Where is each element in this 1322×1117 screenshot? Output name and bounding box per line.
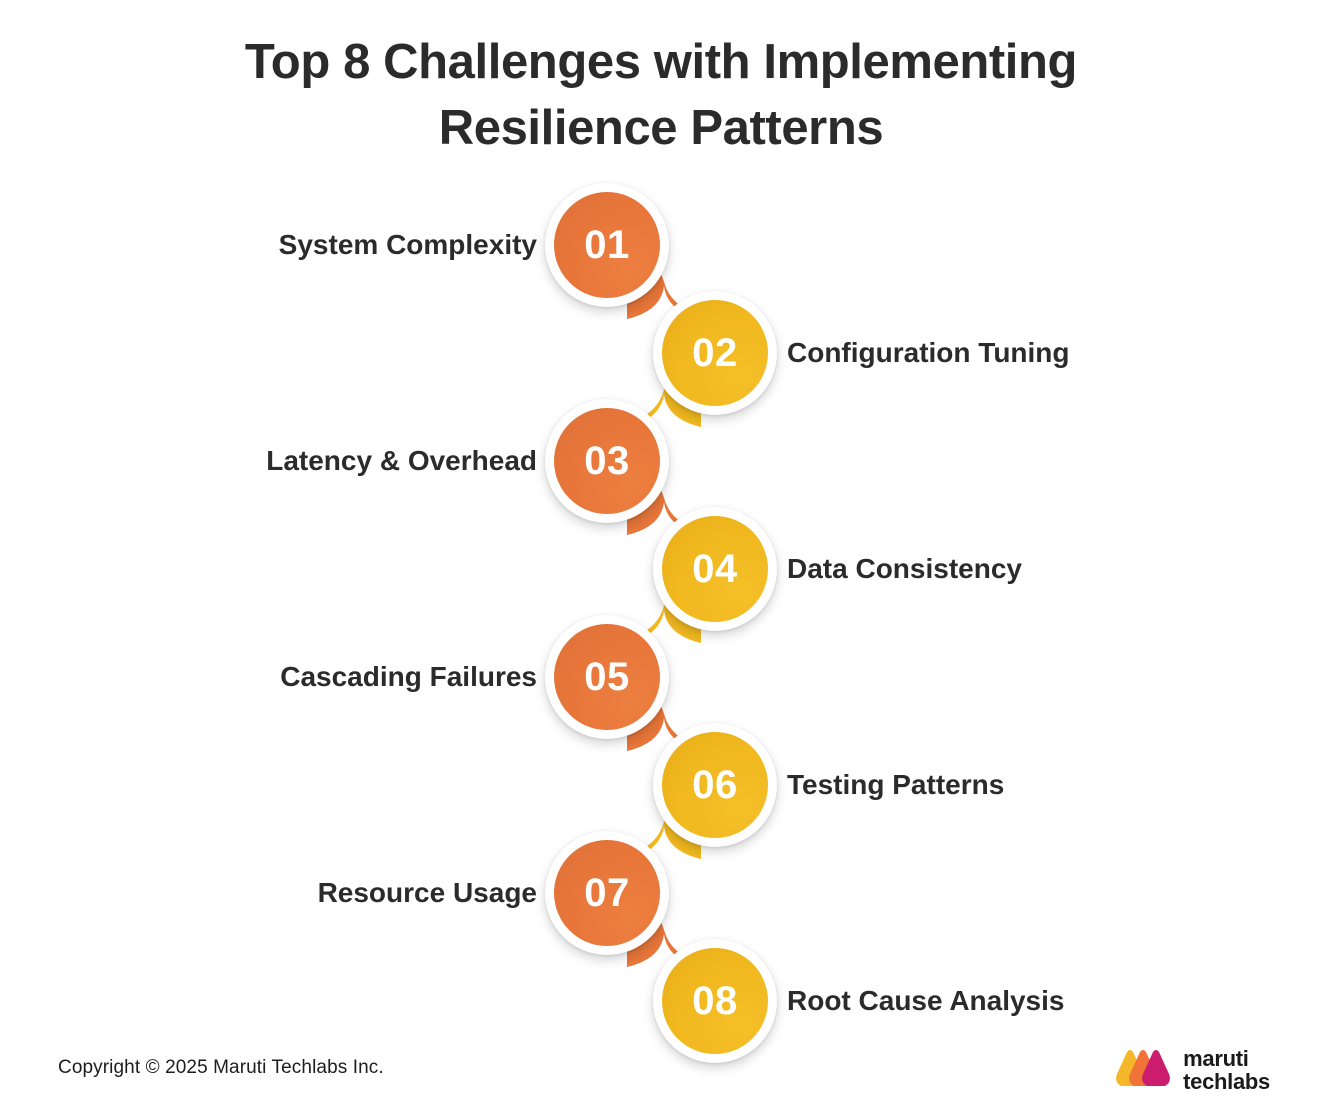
logo-wordmark-line-1: maruti (1183, 1047, 1270, 1070)
infographic-page: Top 8 Challenges with Implementing Resil… (0, 0, 1322, 1117)
step-number-01: 01 (584, 225, 630, 265)
step-node-06[interactable]: 06 (653, 723, 777, 847)
step-number-05: 05 (584, 657, 630, 697)
step-number-04: 04 (692, 549, 738, 589)
step-node-04[interactable]: 04 (653, 507, 777, 631)
step-label-02: Configuration Tuning (787, 336, 1070, 370)
copyright-text: Copyright © 2025 Maruti Techlabs Inc. (58, 1057, 384, 1079)
step-disc-05: 05 (554, 624, 660, 730)
step-number-07: 07 (584, 873, 630, 913)
step-disc-04: 04 (662, 516, 768, 622)
step-node-08[interactable]: 08 (653, 939, 777, 1063)
step-disc-02: 02 (662, 300, 768, 406)
step-label-01: System Complexity (279, 228, 537, 262)
step-disc-07: 07 (554, 840, 660, 946)
step-disc-03: 03 (554, 408, 660, 514)
step-node-01[interactable]: 01 (545, 183, 669, 307)
logo-mark-icon (1110, 1048, 1172, 1092)
step-label-06: Testing Patterns (787, 768, 1004, 802)
step-label-03: Latency & Overhead (266, 444, 537, 478)
logo-wordmark-line-2: techlabs (1183, 1070, 1270, 1093)
step-number-03: 03 (584, 441, 630, 481)
step-label-08: Root Cause Analysis (787, 984, 1064, 1018)
step-disc-06: 06 (662, 732, 768, 838)
step-disc-08: 08 (662, 948, 768, 1054)
step-node-02[interactable]: 02 (653, 291, 777, 415)
step-label-04: Data Consistency (787, 552, 1022, 586)
step-node-03[interactable]: 03 (545, 399, 669, 523)
step-label-07: Resource Usage (318, 876, 537, 910)
step-disc-01: 01 (554, 192, 660, 298)
logo-wordmark: maruti techlabs (1183, 1047, 1270, 1094)
step-label-05: Cascading Failures (280, 660, 537, 694)
maruti-techlabs-logo: maruti techlabs (1110, 1047, 1270, 1094)
step-number-02: 02 (692, 333, 738, 373)
step-number-06: 06 (692, 765, 738, 805)
step-node-05[interactable]: 05 (545, 615, 669, 739)
step-number-08: 08 (692, 981, 738, 1021)
page-footer: Copyright © 2025 Maruti Techlabs Inc. ma… (0, 1035, 1322, 1117)
step-node-07[interactable]: 07 (545, 831, 669, 955)
steps-flow: 01System Complexity02Configuration Tunin… (0, 0, 1322, 1117)
